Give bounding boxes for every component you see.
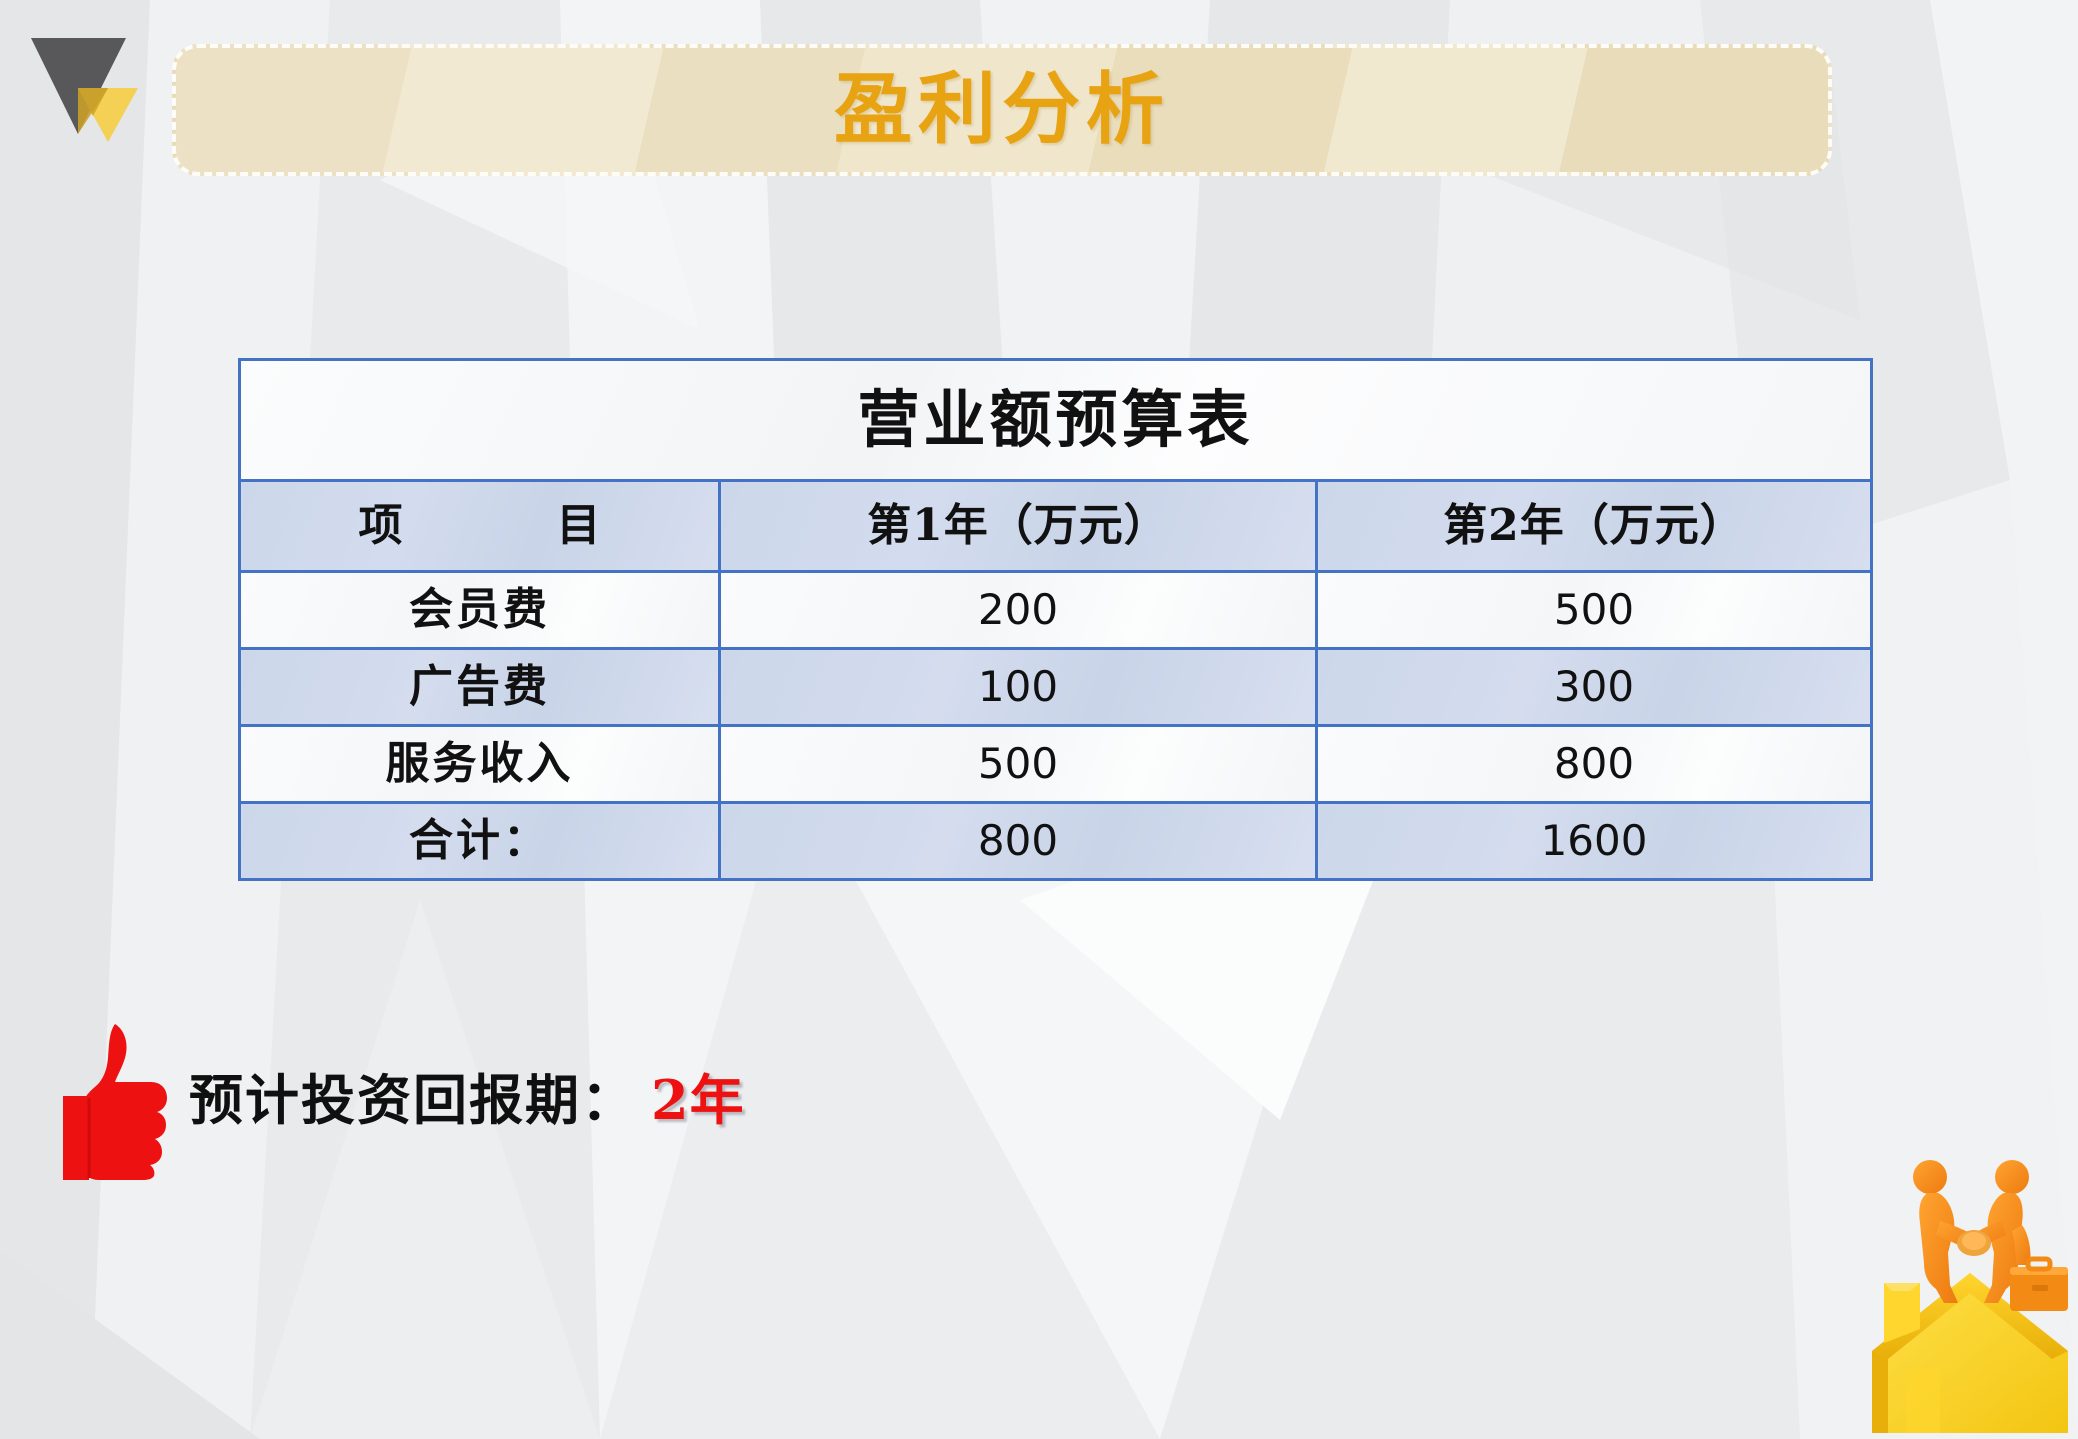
page-title: 盈利分析 xyxy=(834,71,1170,149)
value-year2: 800 xyxy=(1554,739,1634,788)
value-year1: 100 xyxy=(978,662,1058,711)
header-label-item: 项 目 xyxy=(337,500,623,551)
item-label: 广告费 xyxy=(409,661,550,712)
table-caption-cell: 营业额预算表 xyxy=(240,360,1872,481)
table-header-row: 项 目 第1年（万元） 第2年（万元） xyxy=(240,481,1872,572)
value-year1: 800 xyxy=(978,816,1058,865)
table-caption: 营业额预算表 xyxy=(858,383,1254,456)
header-label-year2: 第2年（万元） xyxy=(1443,500,1745,551)
table-row: 会员费 200 500 xyxy=(240,572,1872,649)
budget-table: 营业额预算表 项 目 第1年（万元） 第2年（万元） 会员费 xyxy=(238,358,1873,881)
header-cell-item: 项 目 xyxy=(240,481,720,572)
table-total-row: 合计： 800 1600 xyxy=(240,803,1872,880)
value-year1: 500 xyxy=(978,739,1058,788)
cell-item: 会员费 xyxy=(240,572,720,649)
cell-year1: 800 xyxy=(720,803,1317,880)
payback-text-group: 预计投资回报期： 2年 xyxy=(189,1073,745,1127)
cell-year1: 100 xyxy=(720,649,1317,726)
payback-note: 预计投资回报期： 2年 xyxy=(55,1020,745,1180)
cell-year2: 1600 xyxy=(1317,803,1872,880)
cell-year1: 200 xyxy=(720,572,1317,649)
cell-year2: 300 xyxy=(1317,649,1872,726)
triangle-logo xyxy=(26,30,144,142)
cell-item: 服务收入 xyxy=(240,726,720,803)
cell-item: 合计： xyxy=(240,803,720,880)
table-row: 服务收入 500 800 xyxy=(240,726,1872,803)
cell-year2: 800 xyxy=(1317,726,1872,803)
item-label: 服务收入 xyxy=(386,738,574,789)
value-year2: 500 xyxy=(1554,585,1634,634)
cell-year1: 500 xyxy=(720,726,1317,803)
payback-label: 预计投资回报期： xyxy=(189,1073,637,1127)
value-year1: 200 xyxy=(978,585,1058,634)
header-cell-year2: 第2年（万元） xyxy=(1317,481,1872,572)
handshake-on-house-icon xyxy=(1862,1133,2078,1439)
item-label: 合计： xyxy=(409,815,550,866)
value-year2: 300 xyxy=(1554,662,1634,711)
thumbs-up-icon xyxy=(55,1020,167,1180)
header-cell-year1: 第1年（万元） xyxy=(720,481,1317,572)
slide-canvas: 盈利分析 营业额预算表 项 目 第1年（万元） 第2年（万元） xyxy=(0,0,2078,1439)
title-banner: 盈利分析 xyxy=(172,44,1832,176)
item-label: 会员费 xyxy=(409,584,550,635)
table-caption-row: 营业额预算表 xyxy=(240,360,1872,481)
cell-item: 广告费 xyxy=(240,649,720,726)
table-row: 广告费 100 300 xyxy=(240,649,1872,726)
payback-value: 2年 xyxy=(651,1073,745,1127)
value-year2: 1600 xyxy=(1541,816,1648,865)
cell-year2: 500 xyxy=(1317,572,1872,649)
header-label-year1: 第1年（万元） xyxy=(867,500,1169,551)
